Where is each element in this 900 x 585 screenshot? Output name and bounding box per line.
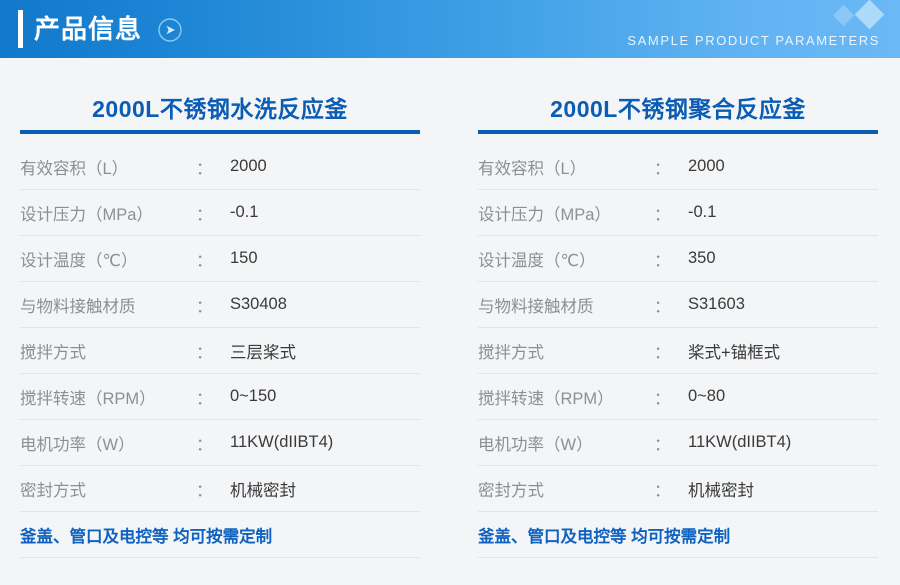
spec-value: 桨式+锚框式 [688, 339, 780, 363]
spec-label: 搅拌方式 [478, 339, 654, 363]
spec-value: S30408 [230, 295, 287, 314]
spec-colon: ： [654, 155, 688, 179]
spec-colon: ： [196, 293, 230, 317]
spec-colon: ： [654, 247, 688, 271]
header-accent-bar [18, 10, 23, 48]
spec-colon: ： [196, 431, 230, 455]
spec-value: 350 [688, 249, 716, 268]
diamond-decoration-small [833, 5, 854, 26]
spec-panel-right: 2000L不锈钢聚合反应釜 有效容积（L） ： 2000 设计压力（MPa） ：… [478, 58, 878, 585]
spec-row: 搅拌方式 ： 三层桨式 [20, 328, 420, 374]
diamond-decoration-large [855, 0, 885, 29]
spec-row: 搅拌转速（RPM） ： 0~80 [478, 374, 878, 420]
spec-footnote: 釜盖、管口及电控等 均可按需定制 [20, 523, 272, 547]
spec-label: 设计压力（MPa） [20, 201, 196, 225]
spec-value: 0~80 [688, 387, 725, 406]
spec-label: 密封方式 [20, 477, 196, 501]
spec-colon: ： [196, 339, 230, 363]
spec-row: 有效容积（L） ： 2000 [478, 144, 878, 190]
spec-panels-container: 2000L不锈钢水洗反应釜 有效容积（L） ： 2000 设计压力（MPa） ：… [0, 58, 900, 585]
panel-title-rule-left [20, 130, 420, 134]
spec-label: 有效容积（L） [478, 155, 654, 179]
spec-value: -0.1 [230, 203, 258, 222]
spec-label: 电机功率（W） [20, 431, 196, 455]
spec-value: 机械密封 [688, 477, 754, 501]
spec-footnote-row: 釜盖、管口及电控等 均可按需定制 [478, 512, 878, 558]
spec-row: 密封方式 ： 机械密封 [478, 466, 878, 512]
spec-colon: ： [654, 339, 688, 363]
page-title: 产品信息 [34, 9, 142, 49]
page-header: 产品信息 SAMPLE PRODUCT PARAMETERS [0, 0, 900, 58]
spec-row: 电机功率（W） ： 11KW(dIIBT4) [20, 420, 420, 466]
spec-label: 搅拌转速（RPM） [478, 385, 654, 409]
spec-label: 有效容积（L） [20, 155, 196, 179]
spec-label: 搅拌转速（RPM） [20, 385, 196, 409]
spec-label: 设计压力（MPa） [478, 201, 654, 225]
spec-value: 11KW(dIIBT4) [688, 433, 791, 452]
page-subtitle: SAMPLE PRODUCT PARAMETERS [627, 33, 880, 48]
spec-label: 与物料接触材质 [20, 293, 196, 317]
panel-title-rule-right [478, 130, 878, 134]
spec-colon: ： [654, 293, 688, 317]
panel-title-left: 2000L不锈钢水洗反应釜 [20, 58, 420, 130]
spec-footnote-row: 釜盖、管口及电控等 均可按需定制 [20, 512, 420, 558]
spec-row: 有效容积（L） ： 2000 [20, 144, 420, 190]
spec-footnote: 釜盖、管口及电控等 均可按需定制 [478, 523, 730, 547]
spec-row: 设计压力（MPa） ： -0.1 [20, 190, 420, 236]
spec-row: 设计压力（MPa） ： -0.1 [478, 190, 878, 236]
spec-value: 150 [230, 249, 258, 268]
spec-row: 与物料接触材质 ： S30408 [20, 282, 420, 328]
spec-label: 与物料接触材质 [478, 293, 654, 317]
spec-panel-left: 2000L不锈钢水洗反应釜 有效容积（L） ： 2000 设计压力（MPa） ：… [20, 58, 420, 585]
spec-value: S31603 [688, 295, 745, 314]
spec-value: -0.1 [688, 203, 716, 222]
spec-colon: ： [654, 385, 688, 409]
panel-title-right: 2000L不锈钢聚合反应釜 [478, 58, 878, 130]
play-circle-icon[interactable] [158, 18, 182, 42]
spec-colon: ： [654, 201, 688, 225]
spec-label: 电机功率（W） [478, 431, 654, 455]
spec-label: 密封方式 [478, 477, 654, 501]
spec-label: 搅拌方式 [20, 339, 196, 363]
spec-row: 搅拌转速（RPM） ： 0~150 [20, 374, 420, 420]
spec-value: 2000 [688, 157, 725, 176]
spec-value: 11KW(dIIBT4) [230, 433, 333, 452]
spec-row: 与物料接触材质 ： S31603 [478, 282, 878, 328]
spec-colon: ： [196, 385, 230, 409]
spec-row: 电机功率（W） ： 11KW(dIIBT4) [478, 420, 878, 466]
spec-colon: ： [196, 247, 230, 271]
spec-colon: ： [196, 477, 230, 501]
spec-value: 0~150 [230, 387, 276, 406]
spec-colon: ： [654, 431, 688, 455]
spec-colon: ： [654, 477, 688, 501]
spec-row: 搅拌方式 ： 桨式+锚框式 [478, 328, 878, 374]
spec-colon: ： [196, 155, 230, 179]
spec-label: 设计温度（℃） [20, 247, 196, 271]
spec-value: 机械密封 [230, 477, 296, 501]
spec-row: 设计温度（℃） ： 150 [20, 236, 420, 282]
spec-label: 设计温度（℃） [478, 247, 654, 271]
spec-row: 密封方式 ： 机械密封 [20, 466, 420, 512]
spec-value: 2000 [230, 157, 267, 176]
spec-colon: ： [196, 201, 230, 225]
spec-value: 三层桨式 [230, 339, 296, 363]
spec-row: 设计温度（℃） ： 350 [478, 236, 878, 282]
